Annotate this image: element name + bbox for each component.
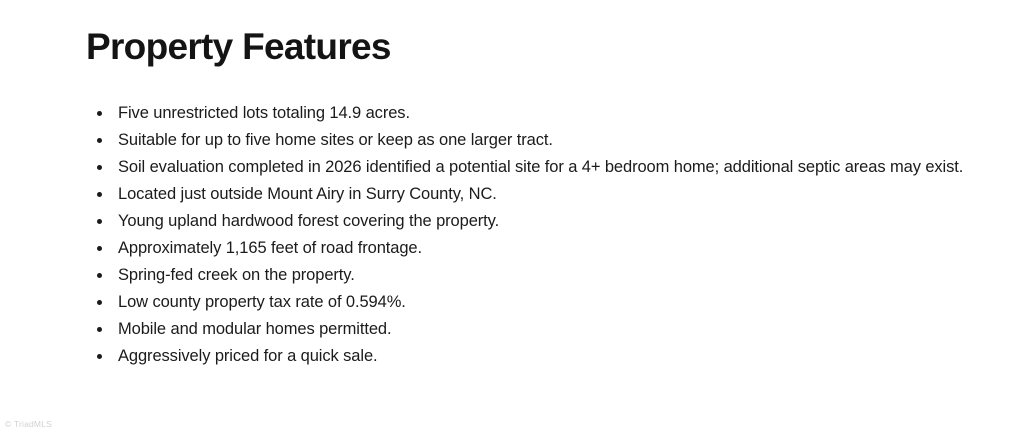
list-item: Aggressively priced for a quick sale. [96,343,1016,370]
page-title: Property Features [86,24,391,70]
bullet-icon [97,165,102,170]
bullet-icon [97,219,102,224]
list-item-label: Young upland hardwood forest covering th… [118,212,499,230]
list-item-label: Approximately 1,165 feet of road frontag… [118,239,422,257]
list-item: Spring-fed creek on the property. [96,262,1016,289]
list-item-label: Five unrestricted lots totaling 14.9 acr… [118,104,410,122]
list-item: Young upland hardwood forest covering th… [96,208,1016,235]
list-item: Five unrestricted lots totaling 14.9 acr… [96,100,1016,127]
bullet-icon [97,138,102,143]
list-item-label: Low county property tax rate of 0.594%. [118,293,406,311]
bullet-icon [97,273,102,278]
property-features-list: Five unrestricted lots totaling 14.9 acr… [96,100,1016,370]
bullet-icon [97,300,102,305]
property-features-slide: Property Features Five unrestricted lots… [0,0,1024,435]
list-item-label: Aggressively priced for a quick sale. [118,347,378,365]
list-item: Soil evaluation completed in 2026 identi… [96,154,1016,181]
bullet-icon [97,327,102,332]
list-item-label: Mobile and modular homes permitted. [118,320,391,338]
list-item-label: Soil evaluation completed in 2026 identi… [118,158,963,176]
list-item-label: Suitable for up to five home sites or ke… [118,131,553,149]
list-item: Suitable for up to five home sites or ke… [96,127,1016,154]
list-item: Low county property tax rate of 0.594%. [96,289,1016,316]
list-item-label: Located just outside Mount Airy in Surry… [118,185,497,203]
bullet-icon [97,111,102,116]
list-item: Located just outside Mount Airy in Surry… [96,181,1016,208]
list-item: Approximately 1,165 feet of road frontag… [96,235,1016,262]
bullet-icon [97,246,102,251]
watermark-label: © TriadMLS [5,419,52,430]
bullet-icon [97,354,102,359]
list-item: Mobile and modular homes permitted. [96,316,1016,343]
bullet-icon [97,192,102,197]
list-item-label: Spring-fed creek on the property. [118,266,355,284]
